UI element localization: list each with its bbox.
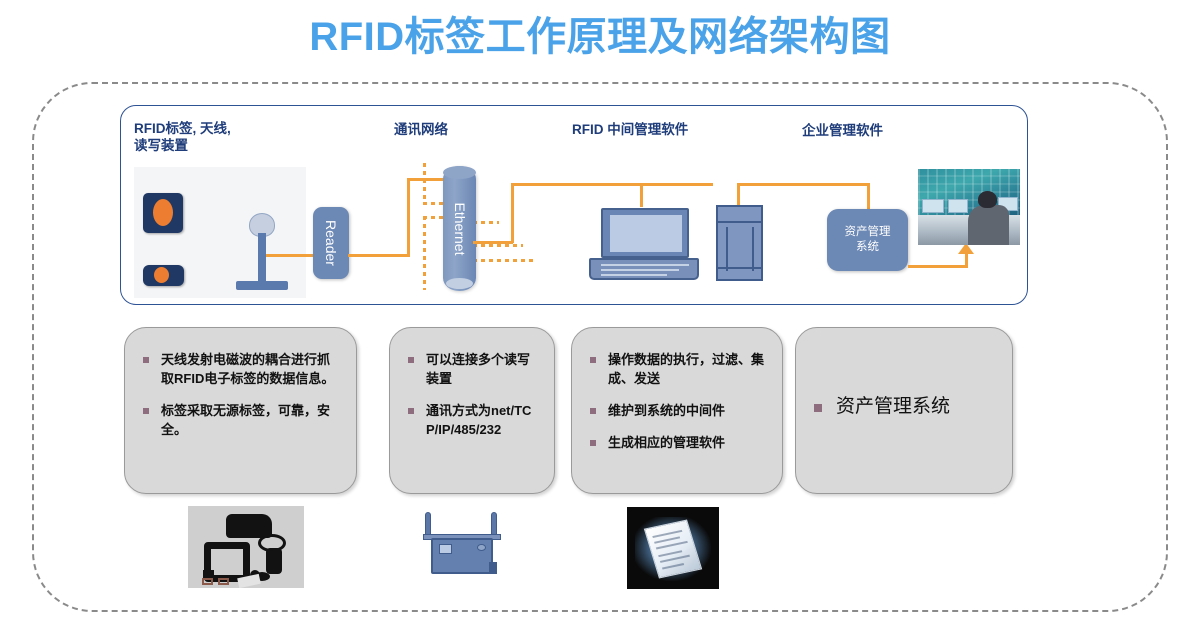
info-card-tags: 天线发射电磁波的耦合进行抓取RFID电子标签的数据信息。 标签采取无源标签，可靠… xyxy=(124,327,357,494)
laptop-key-row xyxy=(601,269,679,271)
link-bus-up xyxy=(511,183,514,243)
antenna-pole xyxy=(258,233,266,283)
list-item: 可以连接多个读写装置 xyxy=(404,350,540,388)
hw-handheld xyxy=(266,548,282,574)
server-slot xyxy=(752,227,754,271)
dotted-line-right-lower xyxy=(473,259,533,262)
laptop-key-row xyxy=(601,264,689,266)
reader-node: Reader xyxy=(313,207,349,279)
router-led xyxy=(439,544,452,554)
laptop-screen xyxy=(610,215,682,252)
list-item: 操作数据的执行，过滤、集成、发送 xyxy=(586,350,768,388)
router-port xyxy=(489,562,497,574)
list-item: 资产管理系统 xyxy=(810,394,998,420)
monitor xyxy=(948,199,968,213)
link-antenna-reader xyxy=(266,254,316,257)
laptop-base xyxy=(589,258,699,280)
bullet-list: 资产管理系统 xyxy=(810,394,998,420)
link-reader-right xyxy=(348,254,410,257)
router-icon xyxy=(417,512,507,582)
arch-label-tags: RFID标签, 天线, 读写装置 xyxy=(134,120,231,154)
asset-management-node: 资产管理 系统 xyxy=(827,209,908,271)
arch-label-enterprise: 企业管理软件 xyxy=(802,122,883,139)
monitor xyxy=(922,199,944,213)
list-item: 通讯方式为net/TCP/IP/485/232 xyxy=(404,401,540,439)
laptop-key-row xyxy=(601,274,667,276)
server-bar xyxy=(718,267,761,269)
router-knob xyxy=(477,544,486,551)
link-bus-top xyxy=(511,183,713,186)
dotted-line-left xyxy=(423,216,426,290)
link-asset-right xyxy=(908,265,968,268)
hw-card-tag xyxy=(218,578,229,585)
screen-text-line xyxy=(662,563,684,570)
rfid-tag-icon xyxy=(143,193,183,233)
list-item: 生成相应的管理软件 xyxy=(586,433,768,452)
arch-label-network: 通讯网络 xyxy=(394,121,448,138)
page-title: RFID标签工作原理及网络架构图 xyxy=(0,8,1200,66)
link-to-laptop xyxy=(640,183,643,207)
link-to-server xyxy=(737,183,740,206)
dotted-line-right-mid xyxy=(473,244,523,247)
info-card-middleware: 操作数据的执行，过滤、集成、发送 维护到系统的中间件 生成相应的管理软件 xyxy=(571,327,783,494)
laptop-screen-frame xyxy=(601,208,689,258)
operator-body xyxy=(968,205,1009,245)
list-item: 天线发射电磁波的耦合进行抓取RFID电子标签的数据信息。 xyxy=(139,350,342,388)
rfid-tag-small-icon xyxy=(143,265,184,286)
info-card-enterprise: 资产管理系统 xyxy=(795,327,1013,494)
link-to-ethernet-top xyxy=(407,178,447,181)
server-bar xyxy=(718,221,761,223)
link-ethernet-right xyxy=(473,241,513,244)
dotted-line-top xyxy=(423,163,426,205)
bullet-list: 操作数据的执行，过滤、集成、发送 维护到系统的中间件 生成相应的管理软件 xyxy=(586,350,768,452)
operator-head xyxy=(978,191,997,208)
laptop-icon xyxy=(589,208,699,280)
link-to-asset-top xyxy=(737,183,870,186)
reader-node-label: Reader xyxy=(323,220,339,266)
link-asset-down xyxy=(867,183,870,211)
hw-card-tag xyxy=(202,578,213,585)
bullet-list: 可以连接多个读写装置 通讯方式为net/TCP/IP/485/232 xyxy=(404,350,540,439)
dotted-line-right-upper xyxy=(473,221,499,224)
ethernet-node: Ethernet xyxy=(443,166,476,291)
link-reader-up xyxy=(407,178,410,257)
server-rack-icon xyxy=(716,205,763,281)
antenna-base xyxy=(236,281,288,290)
list-item: 标签采取无源标签，可靠，安全。 xyxy=(139,401,342,439)
ethernet-node-label: Ethernet xyxy=(452,202,468,255)
rfid-hardware-photo xyxy=(188,506,304,588)
handheld-terminal-photo xyxy=(627,507,719,589)
link-arrow-stem xyxy=(965,252,968,267)
info-card-network: 可以连接多个读写装置 通讯方式为net/TCP/IP/485/232 xyxy=(389,327,555,494)
bullet-list: 天线发射电磁波的耦合进行抓取RFID电子标签的数据信息。 标签采取无源标签，可靠… xyxy=(139,350,342,439)
control-room-photo xyxy=(918,169,1020,245)
arch-label-middleware: RFID 中间管理软件 xyxy=(572,121,688,138)
server-slot xyxy=(726,227,728,271)
list-item: 维护到系统的中间件 xyxy=(586,401,768,420)
